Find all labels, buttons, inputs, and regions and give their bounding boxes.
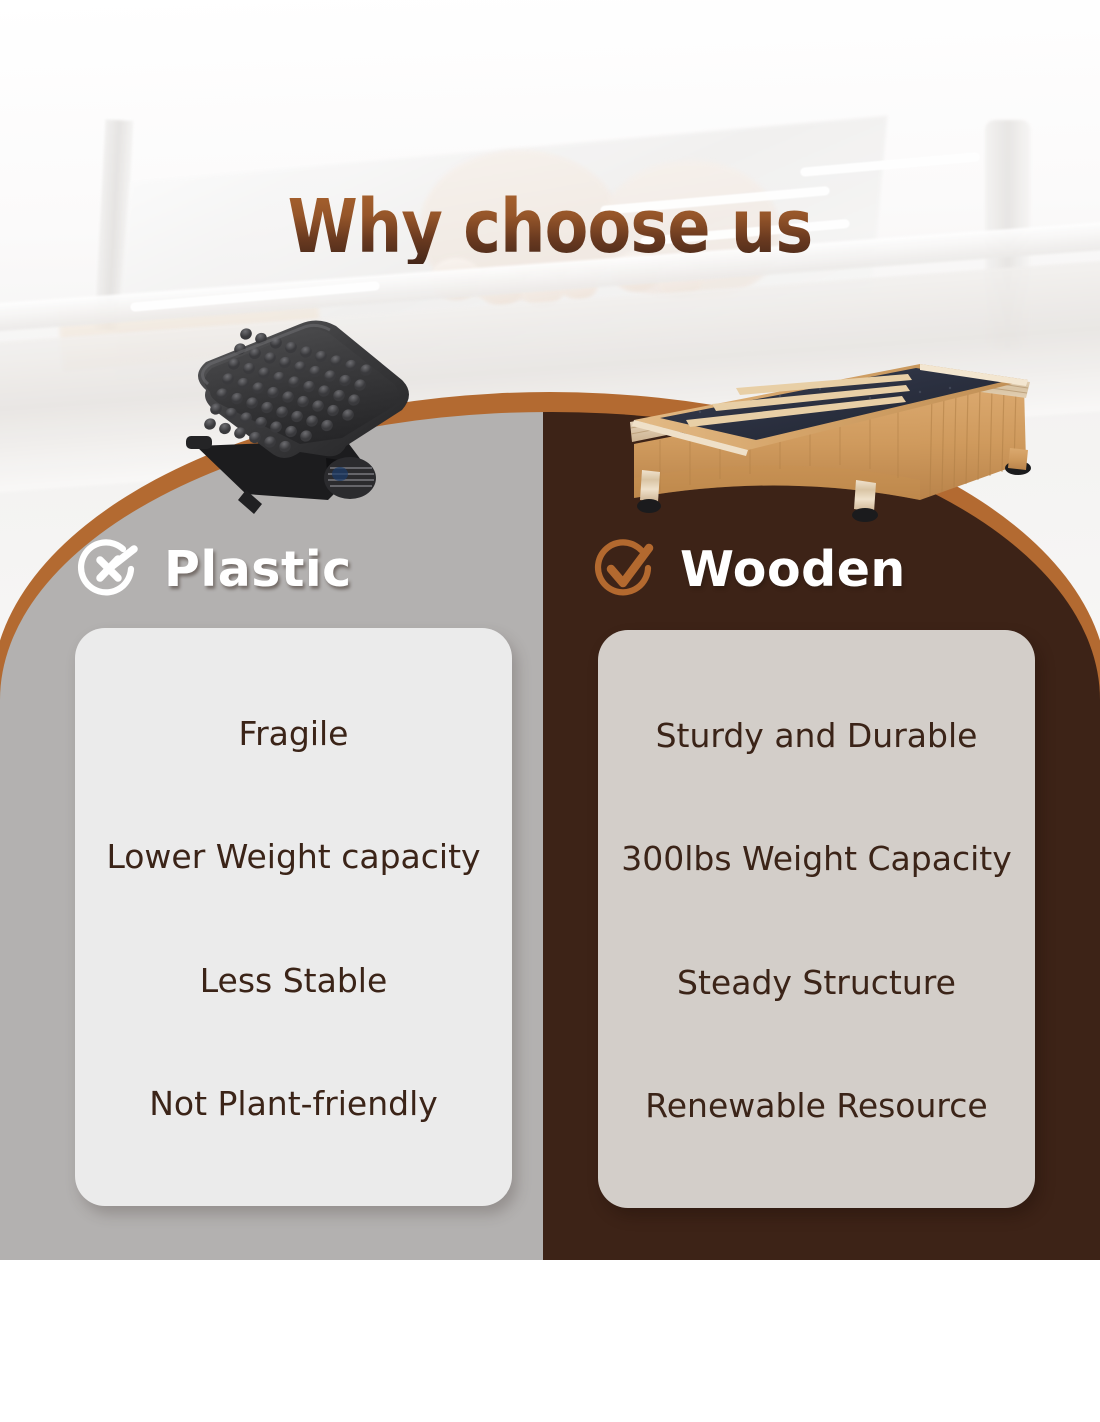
feature-card-wooden: Sturdy and Durable 300lbs Weight Capacit…	[598, 630, 1035, 1208]
feature-item: Less Stable	[200, 962, 388, 1000]
infographic-canvas: Why choose us	[0, 0, 1100, 1422]
plastic-footrest-image	[150, 318, 420, 533]
column-header-plastic: Plastic	[76, 536, 352, 602]
circle-x-icon	[76, 536, 142, 602]
feature-item: Renewable Resource	[645, 1087, 987, 1125]
feature-item: Sturdy and Durable	[656, 717, 978, 755]
feature-item: Not Plant-friendly	[149, 1085, 438, 1123]
feature-item: Fragile	[239, 715, 349, 753]
feature-card-plastic: Fragile Lower Weight capacity Less Stabl…	[75, 628, 512, 1206]
column-label-plastic: Plastic	[164, 541, 352, 598]
column-header-wooden: Wooden	[592, 536, 906, 602]
column-label-wooden: Wooden	[680, 541, 906, 598]
feature-item: Steady Structure	[677, 964, 956, 1002]
feature-item: 300lbs Weight Capacity	[621, 840, 1011, 878]
wooden-footrest-image	[620, 352, 1045, 522]
feature-item: Lower Weight capacity	[106, 838, 480, 876]
circle-check-icon	[592, 536, 658, 602]
page-title: Why choose us	[77, 190, 1023, 264]
